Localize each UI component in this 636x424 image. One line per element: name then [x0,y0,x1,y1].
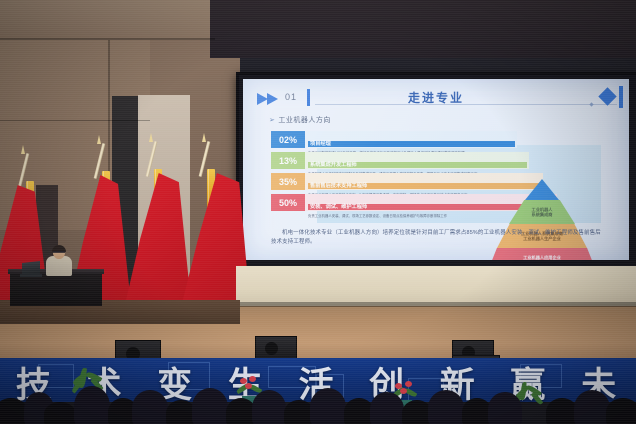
audience-head [428,390,464,424]
chevron-right-icon: ➢ [269,117,275,124]
tier-body: 系统集成开发工程师 负责机器人工作站的电气控制与系统集成工艺、通信与机器人离线编… [305,152,529,169]
presentation-slide: 01 走进专业 ➢工业机器人方向 02% 项目经理 负责工厂智能制造MES系统开… [243,79,629,260]
flower-bloom [400,388,407,394]
pyramid-graphic: 工业机器人系统集成商 工业机器人系统集成商工业机器人生产企业 工业机器人应用企业… [487,179,597,260]
audience-head [488,392,522,424]
audience-head [252,390,286,424]
laptop-base [20,274,42,277]
tier-percent: 35% [271,173,305,190]
slide-header: 01 走进专业 [243,84,629,110]
presenter-body [46,256,72,276]
slide-bullet: ➢工业机器人方向 [269,115,331,125]
pyramid-level-top [525,179,559,200]
flag-finial-icon [97,135,101,144]
audience-head [132,390,168,424]
flower-bloom [245,383,252,389]
pyramid-level-2: 工业机器人系统集成商 [509,200,575,224]
pyramid-level-4: 工业机器人应用企业工业机器人系统集成商 [487,248,597,260]
pyramid-level-2-label: 工业机器人系统集成商 [532,207,553,218]
audience-head [574,390,610,424]
audience-head [606,398,636,424]
audience-head [44,402,76,424]
tier-body: 项目经理 负责工厂智能制造MES系统开发、规划产线自动化工艺流程设计及项目人员组… [305,131,517,148]
speaker-cone [265,342,278,355]
tier-percent: 50% [271,194,305,211]
audience-head [310,388,346,424]
projection-screen: 01 走进专业 ➢工业机器人方向 02% 项目经理 负责工厂智能制造MES系统开… [243,79,629,260]
glasses-icon [53,251,65,253]
tier-title: 项目经理 [308,141,515,147]
tier-percent: 13% [271,152,305,169]
header-right-bar [619,86,623,108]
flower-bloom [405,381,412,387]
stage-front-panel [236,266,636,306]
stage-front-shadow [236,302,636,307]
slide-bullet-label: 工业机器人方向 [278,117,331,124]
flag-finial-icon [202,133,206,142]
audience-head [192,388,228,424]
pyramid-level-4-label: 工业机器人应用企业工业机器人系统集成商 [521,255,563,260]
audience-head [74,386,110,424]
slide-caption: 机电一体化技术专业（工业机器人方向）培养定位就是针对目前工厂需求占85%的工业机… [271,229,603,247]
flag-finial-icon [21,145,25,154]
tier-percent: 02% [271,131,305,148]
presenter-desk [10,272,102,306]
lecture-hall-photo: 01 走进专业 ➢工业机器人方向 02% 项目经理 负责工厂智能制造MES系统开… [0,0,636,424]
wall-upper-right [210,0,636,58]
audience-head [370,392,404,424]
slide-title: 走进专业 [243,89,629,106]
career-pyramid-chart: 02% 项目经理 负责工厂智能制造MES系统开发、规划产线自动化工艺流程设计及项… [271,131,601,223]
flag-finial-icon [149,133,153,142]
tier-row: 13% 系统集成开发工程师 负责机器人工作站的电气控制与系统集成工艺、通信与机器… [271,152,529,169]
tier-title: 系统集成开发工程师 [308,162,527,168]
wall-top-tan [0,0,210,40]
tier-row: 02% 项目经理 负责工厂智能制造MES系统开发、规划产线自动化工艺流程设计及项… [271,131,517,148]
flower-bloom [249,376,256,382]
